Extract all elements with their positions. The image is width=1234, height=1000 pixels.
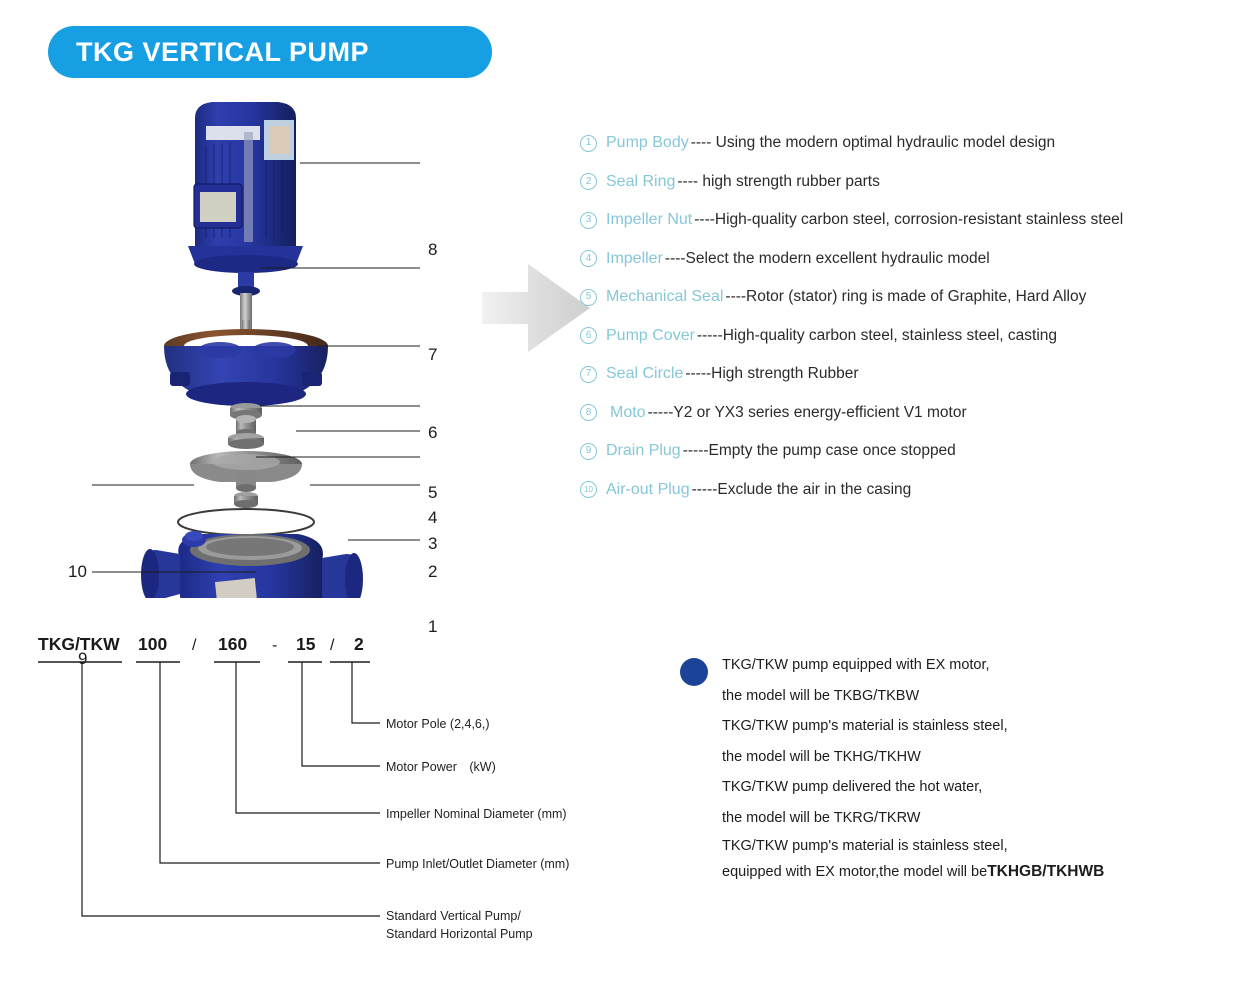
legend-item-2: 2 Seal Ring ---- high strength rubber pa… [580,163,1230,202]
legend-part-name: Impeller [606,250,663,268]
variant-line-8-text: equipped with EX motor,the model will be [722,865,987,880]
callout-number-3: 3 [428,534,437,554]
exploded-pump-diagram: 8 7 6 5 4 3 2 1 10 9 [60,88,480,598]
legend-part-name: Impeller Nut [606,211,692,229]
callout-number-10: 10 [68,562,87,582]
page-title-banner: TKG VERTICAL PUMP [48,26,492,78]
legend-part-name: Pump Body [606,134,689,152]
legend-part-desc: ---- high strength rubber parts [677,173,879,191]
legend-item-3: 3 Impeller Nut ----High-quality carbon s… [580,201,1230,240]
pump-infographic-page: TKG VERTICAL PUMP [0,0,1234,1000]
legend-part-desc: ---- Using the modern optimal hydraulic … [691,134,1055,152]
legend-item-9: 9 Drain Plug -----Empty the pump case on… [580,432,1230,471]
legend-number-icon: 1 [580,135,597,152]
model-token-inlet: 100 [138,634,167,654]
legend-part-desc: ----Rotor (stator) ring is made of Graph… [725,288,1086,306]
callout-number-5: 5 [428,483,437,503]
model-leader-lines [82,662,380,916]
model-token-series: TKG/TKW [38,634,120,654]
legend-number-icon: 4 [580,250,597,267]
legend-part-desc: -----High strength Rubber [685,365,858,383]
callout-number-6: 6 [428,423,437,443]
legend-number-icon: 2 [580,173,597,190]
variant-line-6: the model will be TKRG/TKRW [722,803,1210,834]
model-label-standard-2: Standard Horizontal Pump [386,927,533,941]
callout-number-2: 2 [428,562,437,582]
legend-number-icon: 5 [580,289,597,306]
legend-item-8: 8 Moto -----Y2 or YX3 series energy-effi… [580,394,1230,433]
legend-part-name: Drain Plug [606,442,681,460]
callout-number-7: 7 [428,345,437,365]
legend-part-desc: ----High-quality carbon steel, corrosion… [694,211,1123,229]
model-label-standard-1: Standard Vertical Pump/ [386,909,521,923]
legend-part-name: Mechanical Seal [606,288,723,306]
model-label-pump-dia: Pump Inlet/Outlet Diameter (mm) [386,857,569,871]
legend-item-4: 4 Impeller ----Select the modern excelle… [580,240,1230,279]
parts-legend-list: 1 Pump Body ---- Using the modern optima… [580,124,1230,509]
legend-number-icon: 9 [580,443,597,460]
legend-part-desc: -----Exclude the air in the casing [692,481,912,499]
mechanical-seal-part [228,403,264,449]
impeller-nut-part [234,492,258,508]
pump-cover-part [164,329,328,406]
legend-item-10: 10 Air-out Plug -----Exclude the air in … [580,471,1230,510]
model-token-impeller: 160 [218,634,247,654]
legend-part-name: Seal Circle [606,365,683,383]
bullet-dot-icon [680,658,708,686]
variant-line-1: TKG/TKW pump equipped with EX motor, [722,650,1210,681]
motor-part [188,102,303,273]
model-token-sep-3: / [330,637,335,654]
legend-number-icon: 6 [580,327,597,344]
legend-part-desc: -----Empty the pump case once stopped [683,442,956,460]
legend-part-name: Seal Ring [606,173,675,191]
model-label-motor-pole: Motor Pole (2,4,6,) [386,717,490,731]
legend-part-desc: -----Y2 or YX3 series energy-efficient V… [648,404,967,422]
flow-arrow-icon [482,252,594,364]
callout-number-8: 8 [428,240,437,260]
legend-item-7: 7 Seal Circle -----High strength Rubber [580,355,1230,394]
page-title: TKG VERTICAL PUMP [48,37,369,68]
variant-line-4: the model will be TKHG/TKHW [722,742,1210,773]
seal-ring-part [178,509,314,535]
legend-part-name: Air-out Plug [606,481,690,499]
model-token-sep-1: / [192,637,197,654]
model-code-breakdown: TKG/TKW 100 / 160 - 15 / 2 [22,628,622,958]
legend-number-icon: 10 [580,481,597,498]
legend-number-icon: 3 [580,212,597,229]
pump-body-part [141,531,363,598]
variant-line-5: TKG/TKW pump delivered the hot water, [722,772,1210,803]
legend-item-5: 5 Mechanical Seal ----Rotor (stator) rin… [580,278,1230,317]
variant-line-7: TKG/TKW pump's material is stainless ste… [722,833,1210,859]
model-variant-notes: TKG/TKW pump equipped with EX motor, the… [680,650,1210,885]
model-token-pole: 2 [354,634,364,654]
legend-part-name: Moto [610,404,646,422]
model-token-power: 15 [296,634,316,654]
model-label-impeller: Impeller Nominal Diameter (mm) [386,807,567,821]
legend-item-1: 1 Pump Body ---- Using the modern optima… [580,124,1230,163]
legend-number-icon: 8 [580,404,597,421]
variant-line-3: TKG/TKW pump's material is stainless ste… [722,711,1210,742]
model-label-motor-power: Motor Power (kW) [386,760,496,774]
variant-line-8: equipped with EX motor,the model will be… [722,859,1210,885]
legend-part-desc: ----Select the modern excellent hydrauli… [665,250,990,268]
legend-part-name: Pump Cover [606,327,695,345]
variant-line-2: the model will be TKBG/TKBW [722,681,1210,712]
callout-number-4: 4 [428,508,437,528]
variant-line-8-model: TKHGB/TKHWB [987,864,1104,880]
legend-part-desc: -----High-quality carbon steel, stainles… [697,327,1057,345]
model-token-sep-2: - [272,637,277,654]
legend-item-6: 6 Pump Cover -----High-quality carbon st… [580,317,1230,356]
legend-number-icon: 7 [580,366,597,383]
